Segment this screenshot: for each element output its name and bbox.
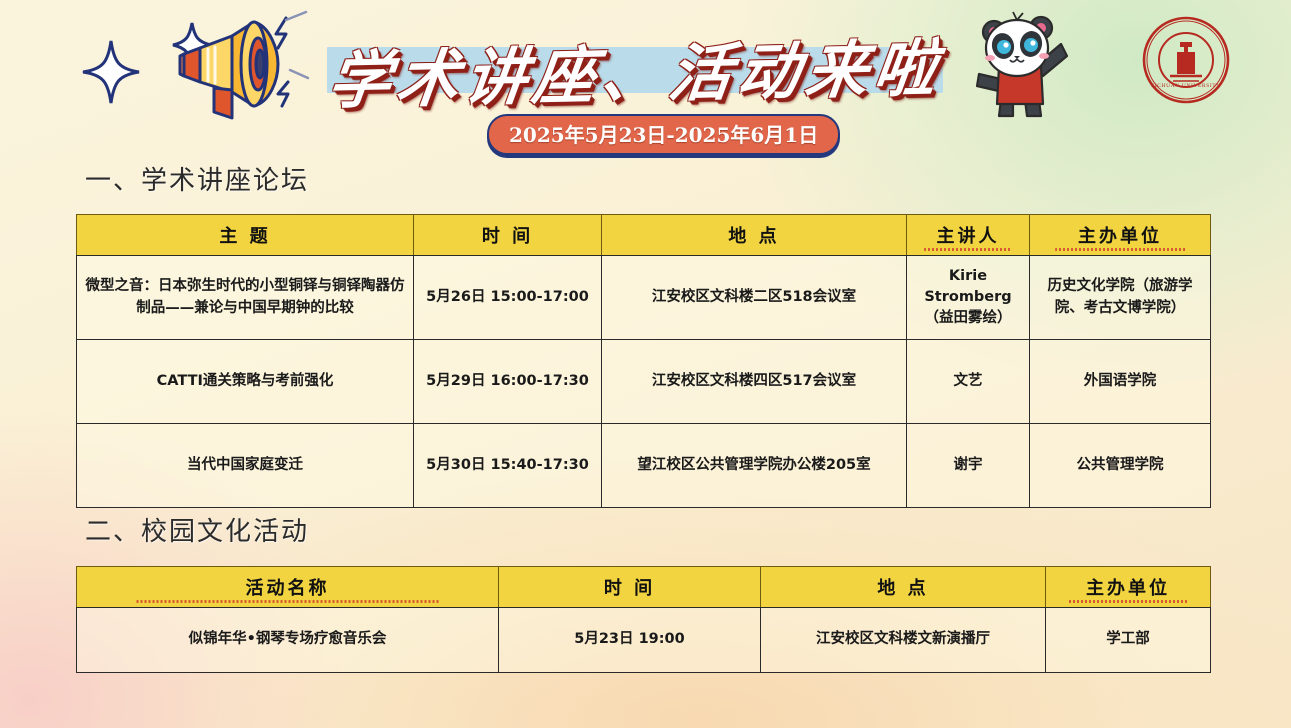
megaphone-icon: [158, 8, 318, 128]
speaker-name: Kirie Stromberg: [924, 268, 1011, 305]
activities-table: 活动名称 时 间 地 点 主办单位 似锦年华•钢琴专场疗愈音乐会 5月23日 1…: [76, 566, 1211, 673]
cell-time: 5月30日 15:40-17:30: [414, 424, 602, 508]
cell-organizer: 外国语学院: [1030, 340, 1211, 424]
column-header-place: 地 点: [761, 567, 1046, 608]
lectures-table: 主 题 时 间 地 点 主讲人 主办单位 微型之音：日本弥生时代的小型铜铎与铜铎…: [76, 214, 1211, 508]
cell-organizer: 学工部: [1046, 608, 1211, 673]
column-header-activity-name: 活动名称: [77, 567, 499, 608]
cell-organizer: 公共管理学院: [1030, 424, 1211, 508]
cell-activity-name: 似锦年华•钢琴专场疗愈音乐会: [77, 608, 499, 673]
date-range-badge: 2025年5月23日-2025年6月1日: [487, 114, 840, 155]
cell-speaker: Kirie Stromberg （益田雾绘）: [907, 256, 1030, 340]
table-row: 微型之音：日本弥生时代的小型铜铎与铜铎陶器仿制品——兼论与中国早期钟的比较 5月…: [77, 256, 1211, 340]
sparkle-icon: [82, 40, 140, 104]
table-row: 当代中国家庭变迁 5月30日 15:40-17:30 望江校区公共管理学院办公楼…: [77, 424, 1211, 508]
cell-time: 5月23日 19:00: [499, 608, 761, 673]
column-header-time: 时 间: [414, 215, 602, 256]
column-header-speaker: 主讲人: [907, 215, 1030, 256]
section-heading-lectures: 一、学术讲座论坛: [85, 160, 309, 197]
cell-place: 望江校区公共管理学院办公楼205室: [602, 424, 907, 508]
section-heading-activities: 二、校园文化活动: [85, 511, 309, 548]
table-header-row: 主 题 时 间 地 点 主讲人 主办单位: [77, 215, 1211, 256]
cell-topic: 微型之音：日本弥生时代的小型铜铎与铜铎陶器仿制品——兼论与中国早期钟的比较: [77, 256, 414, 340]
column-header-time: 时 间: [499, 567, 761, 608]
panda-mascot-icon: [965, 8, 1075, 126]
cell-speaker: 文艺: [907, 340, 1030, 424]
poster-canvas: SICHUAN UNIVERSITY 1896 学术讲座、活动来啦 2025年5…: [0, 0, 1291, 728]
cell-topic: CATTI通关策略与考前强化: [77, 340, 414, 424]
cell-place: 江安校区文科楼文新演播厅: [761, 608, 1046, 673]
column-header-topic: 主 题: [77, 215, 414, 256]
svg-text:SICHUAN UNIVERSITY: SICHUAN UNIVERSITY: [1151, 83, 1221, 89]
cell-organizer: 历史文化学院（旅游学院、考古文博学院）: [1030, 256, 1211, 340]
cell-time: 5月29日 16:00-17:30: [414, 340, 602, 424]
cell-topic: 当代中国家庭变迁: [77, 424, 414, 508]
column-header-place: 地 点: [602, 215, 907, 256]
cell-speaker: 谢宇: [907, 424, 1030, 508]
column-header-organizer: 主办单位: [1046, 567, 1211, 608]
column-header-organizer: 主办单位: [1030, 215, 1211, 256]
cell-place: 江安校区文科楼四区517会议室: [602, 340, 907, 424]
cell-place: 江安校区文科楼二区518会议室: [602, 256, 907, 340]
table-row: CATTI通关策略与考前强化 5月29日 16:00-17:30 江安校区文科楼…: [77, 340, 1211, 424]
svg-text:1896: 1896: [1181, 71, 1192, 76]
page-title: 学术讲座、活动来啦: [324, 18, 948, 121]
sichuan-university-logo: SICHUAN UNIVERSITY 1896: [1140, 14, 1232, 106]
table-header-row: 活动名称 时 间 地 点 主办单位: [77, 567, 1211, 608]
cell-time: 5月26日 15:00-17:00: [414, 256, 602, 340]
table-row: 似锦年华•钢琴专场疗愈音乐会 5月23日 19:00 江安校区文科楼文新演播厅 …: [77, 608, 1211, 673]
speaker-alias: （益田雾绘）: [925, 310, 1012, 326]
